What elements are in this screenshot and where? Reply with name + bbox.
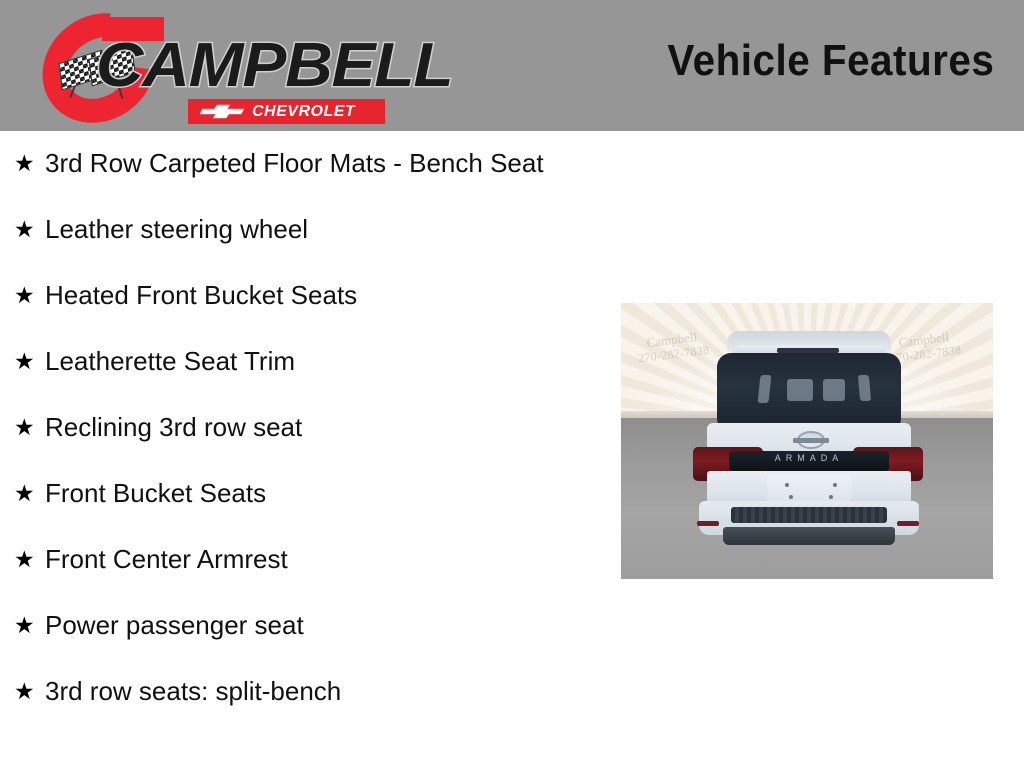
bumper-reflector-right — [897, 521, 919, 526]
star-bullet-icon: ★ — [14, 278, 45, 312]
plate-bolt — [789, 495, 793, 499]
rear-diffuser — [723, 527, 895, 545]
list-item: ★ Leather steering wheel — [14, 212, 594, 246]
feature-label: Leather steering wheel — [45, 212, 594, 246]
dealer-name-wordmark: CAMPBELL — [96, 30, 453, 101]
window-reflection — [787, 379, 813, 401]
star-bullet-icon: ★ — [14, 146, 45, 180]
star-bullet-icon: ★ — [14, 542, 45, 576]
bumper-step-pad — [731, 507, 887, 523]
plate-bolt — [785, 483, 789, 487]
page-title: Vehicle Features — [667, 36, 994, 86]
page-header: CAMPBELL CHEVROLET Vehicle Features — [0, 0, 1024, 131]
feature-list: ★ 3rd Row Carpeted Floor Mats - Bench Se… — [14, 146, 594, 740]
nissan-emblem-bar — [793, 438, 829, 443]
bumper-reflector-left — [697, 521, 719, 526]
plate-bolt — [829, 495, 833, 499]
license-plate-recess — [767, 475, 851, 501]
list-item: ★ Power passenger seat — [14, 608, 594, 642]
model-badge: ARMADA — [729, 453, 889, 463]
star-bullet-icon: ★ — [14, 410, 45, 444]
feature-label: Heated Front Bucket Seats — [45, 278, 594, 312]
feature-label: Power passenger seat — [45, 608, 594, 642]
feature-label: 3rd Row Carpeted Floor Mats - Bench Seat — [45, 146, 594, 180]
feature-label: 3rd row seats: split-bench — [45, 674, 594, 708]
star-bullet-icon: ★ — [14, 344, 45, 378]
chevrolet-wordmark: CHEVROLET — [252, 103, 355, 121]
vehicle-photo[interactable]: Campbell 270-282-7838 Campbell 270-282-7… — [621, 303, 993, 579]
list-item: ★ Reclining 3rd row seat — [14, 410, 594, 444]
list-item: ★ 3rd Row Carpeted Floor Mats - Bench Se… — [14, 146, 594, 180]
list-item: ★ Leatherette Seat Trim — [14, 344, 594, 378]
feature-label: Leatherette Seat Trim — [45, 344, 594, 378]
star-bullet-icon: ★ — [14, 212, 45, 246]
chevrolet-bowtie-icon — [200, 104, 246, 119]
window-reflection — [823, 379, 845, 401]
list-item: ★ Heated Front Bucket Seats — [14, 278, 594, 312]
window-reflection — [858, 375, 871, 401]
plate-bolt — [833, 483, 837, 487]
list-item: ★ 3rd row seats: split-bench — [14, 674, 594, 708]
vehicle-features-page: CAMPBELL CHEVROLET Vehicle Features ★ 3r… — [0, 0, 1024, 768]
star-bullet-icon: ★ — [14, 476, 45, 510]
star-bullet-icon: ★ — [14, 674, 45, 708]
suv-rear-illustration: ARMADA — [671, 331, 943, 546]
feature-label: Front Center Armrest — [45, 542, 594, 576]
list-item: ★ Front Center Armrest — [14, 542, 594, 576]
star-bullet-icon: ★ — [14, 608, 45, 642]
feature-label: Reclining 3rd row seat — [45, 410, 594, 444]
feature-label: Front Bucket Seats — [45, 476, 594, 510]
list-item: ★ Front Bucket Seats — [14, 476, 594, 510]
chevrolet-banner: CHEVROLET — [188, 99, 385, 124]
dealer-logo[interactable]: CAMPBELL CHEVROLET — [40, 8, 385, 123]
